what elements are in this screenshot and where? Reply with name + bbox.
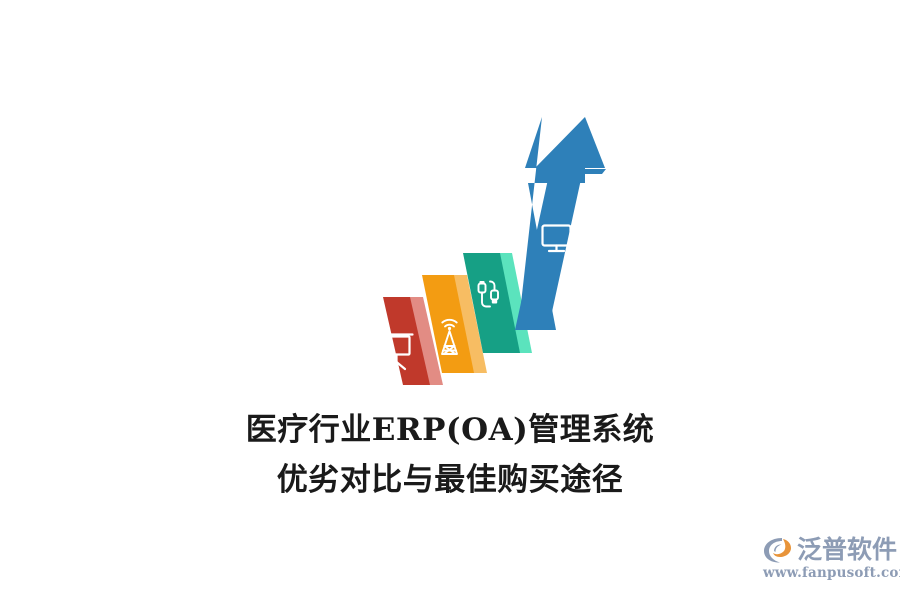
headline-line-1: 医疗行业ERP(OA)管理系统: [0, 405, 900, 455]
page-title: 医疗行业ERP(OA)管理系统 优劣对比与最佳购买途径: [0, 405, 900, 505]
page-canvas: 医疗行业ERP(OA)管理系统 优劣对比与最佳购买途径 泛普软件 www.fan…: [0, 0, 900, 600]
headline-line-2: 优劣对比与最佳购买途径: [0, 455, 900, 505]
growth-arrow-graphic: [350, 100, 620, 400]
brand-wordmark: 泛普软件: [797, 535, 897, 565]
brand-logo-row: 泛普软件: [762, 533, 897, 567]
brand-url: www.fanpusoft.com: [763, 565, 900, 581]
fanpu-logo-icon: [762, 535, 794, 565]
growth-step-4: [515, 117, 606, 330]
brand-watermark: 泛普软件 www.fanpusoft.com: [762, 533, 894, 591]
